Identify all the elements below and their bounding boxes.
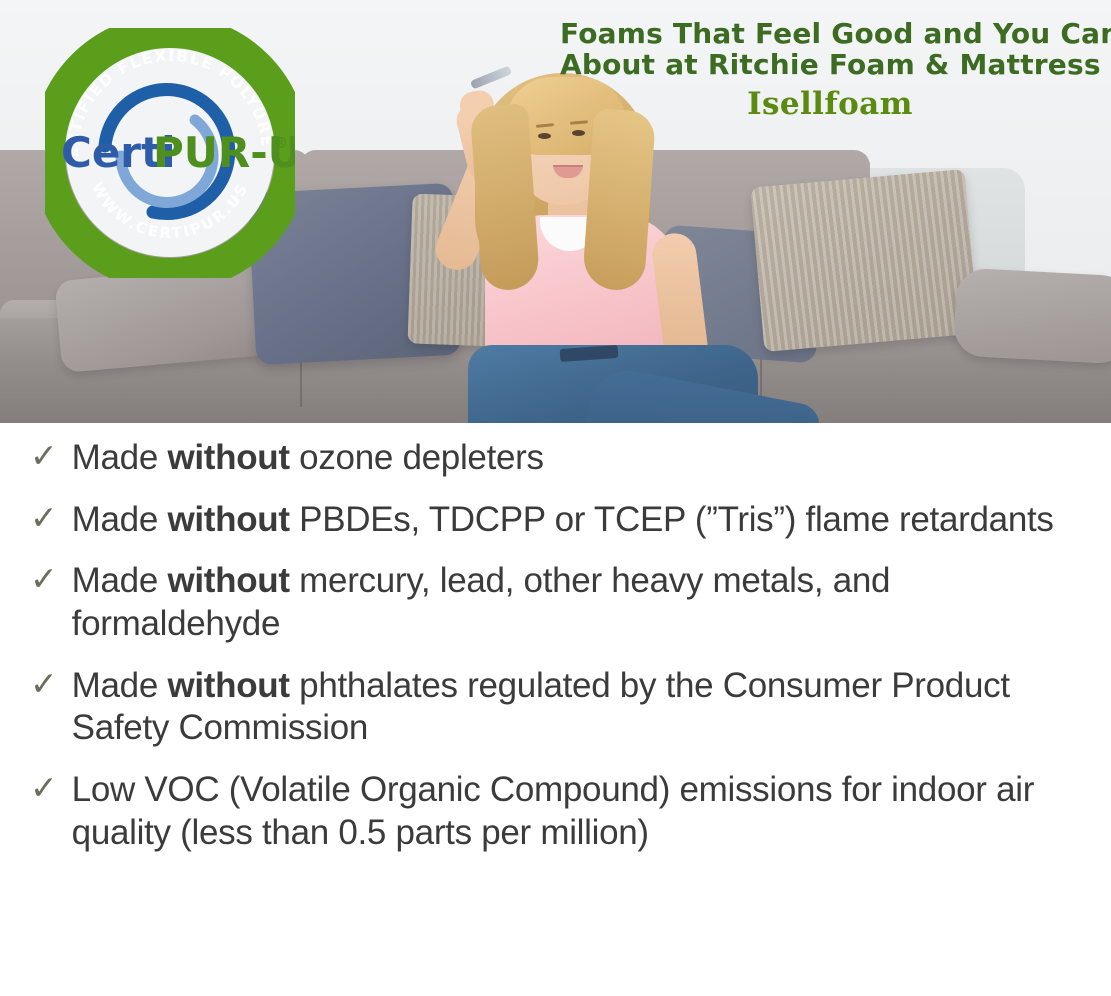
checkmark-icon: ✓ [30, 771, 58, 805]
checkmark-icon: ✓ [30, 501, 58, 535]
pillow-right-flat [953, 267, 1111, 364]
woman-eye-left [538, 133, 551, 139]
list-item: ✓ Low VOC (Volatile Organic Compound) em… [30, 769, 1083, 854]
bullet-pre: Made [72, 561, 168, 600]
bullet-pre: Made [72, 500, 168, 539]
headline-line-2: About at Ritchie Foam & Mattress .. [560, 49, 1100, 80]
bullet-pre: Made [72, 666, 168, 705]
list-item: ✓ Made without PBDEs, TDCPP or TCEP (”Tr… [30, 499, 1083, 542]
bullet-bold: without [167, 500, 289, 539]
woman-eye-right [572, 130, 585, 136]
certipur-us-logo: CONTAINS CERTIFIED FLEXIBLE POLYURETHANE… [45, 28, 295, 278]
list-item: ✓ Made without ozone depleters [30, 437, 1083, 480]
headline-line-1: Foams That Feel Good and You Can Feel Go… [560, 18, 1100, 49]
hero-photo: CONTAINS CERTIFIED FLEXIBLE POLYURETHANE… [0, 0, 1111, 423]
bullet-bold: without [167, 561, 289, 600]
headline-line-2-text: About at Ritchie Foam & Mattress [560, 48, 1101, 81]
checkmark-icon: ✓ [30, 439, 58, 473]
bullet-post: PBDEs, TDCPP or TCEP (”Tris”) flame reta… [290, 500, 1054, 539]
headline-block: Foams That Feel Good and You Can Feel Go… [560, 18, 1100, 121]
woman-hair-side-right [582, 108, 656, 292]
checkmark-icon: ✓ [30, 667, 58, 701]
brand-name: Isellfoam [560, 87, 1100, 122]
list-item: ✓ Made without phthalates regulated by t… [30, 665, 1083, 750]
list-item: ✓ Made without mercury, lead, other heav… [30, 560, 1083, 645]
bullet-bold: without [167, 666, 289, 705]
list-item-text: Made without mercury, lead, other heavy … [72, 560, 1083, 645]
list-item-text: Made without phthalates regulated by the… [72, 665, 1083, 750]
bullet-bold: without [167, 438, 289, 477]
remote-control [470, 65, 512, 89]
benefits-list: ✓ Made without ozone depleters ✓ Made wi… [0, 423, 1111, 996]
bullet-post: Low VOC (Volatile Organic Compound) emis… [72, 770, 1034, 852]
logo-registered-icon: ® [273, 134, 288, 152]
list-item-text: Low VOC (Volatile Organic Compound) emis… [72, 769, 1083, 854]
poster: CONTAINS CERTIFIED FLEXIBLE POLYURETHANE… [0, 0, 1111, 996]
list-item-text: Made without ozone depleters [72, 437, 544, 480]
bullet-pre: Made [72, 438, 168, 477]
list-item-text: Made without PBDEs, TDCPP or TCEP (”Tris… [72, 499, 1054, 542]
checkmark-icon: ✓ [30, 562, 58, 596]
bullet-post: ozone depleters [290, 438, 544, 477]
